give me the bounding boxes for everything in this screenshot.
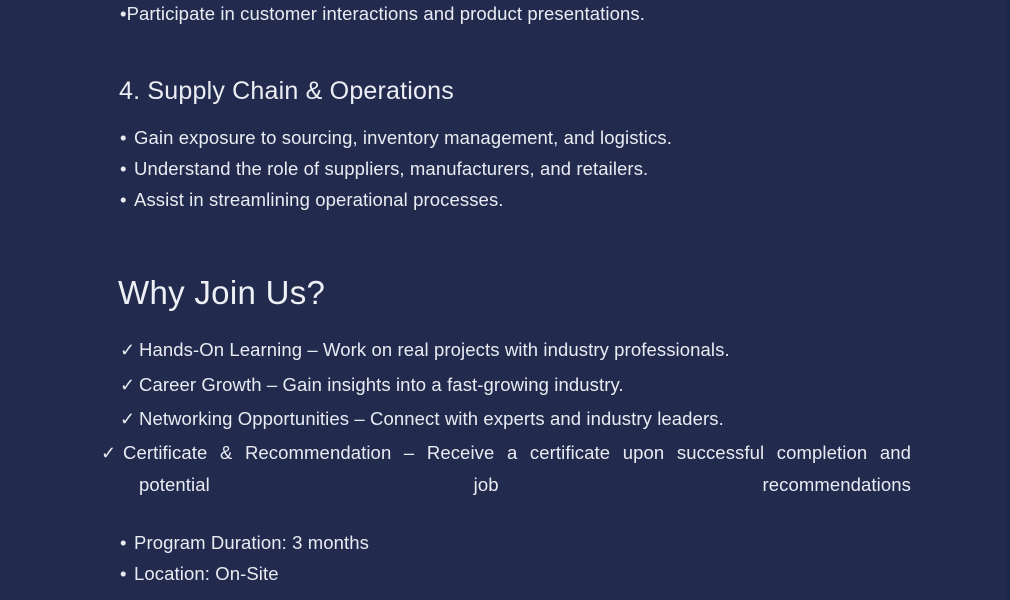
slide-canvas: •Participate in customer interactions an… (0, 0, 1010, 600)
bullet-marker: • (120, 122, 134, 153)
bullet-marker: • (120, 527, 134, 558)
bullet-marker: • (120, 558, 134, 589)
bullet-marker: • (120, 3, 127, 24)
section-heading: 4. Supply Chain & Operations (119, 75, 454, 107)
list-item: •Understand the role of suppliers, manuf… (120, 153, 672, 184)
list-item-label: Certificate & Recommendation – Receive a… (123, 442, 911, 495)
page-title: Why Join Us? (118, 272, 325, 314)
list-item-label: Networking Opportunities – Connect with … (139, 408, 724, 429)
list-item: •Gain exposure to sourcing, inventory ma… (120, 122, 672, 153)
list-item-label: Participate in customer interactions and… (127, 3, 645, 24)
list-item: ✓Hands-On Learning – Work on real projec… (120, 333, 910, 368)
list-item: ✓Networking Opportunities – Connect with… (120, 402, 910, 437)
list-item: •Participate in customer interactions an… (120, 2, 645, 26)
list-item: •Assist in streamlining operational proc… (120, 184, 672, 215)
check-icon: ✓ (120, 369, 139, 403)
program-details-list: •Program Duration: 3 months •Location: O… (120, 527, 369, 589)
list-item: •Program Duration: 3 months (120, 527, 369, 558)
list-item: •Location: On-Site (120, 558, 369, 589)
list-item-label: Hands-On Learning – Work on real project… (139, 339, 730, 360)
list-item-label: Assist in streamlining operational proce… (134, 189, 504, 210)
list-item: ✓Certificate & Recommendation – Receive … (120, 437, 911, 531)
list-item-label: Gain exposure to sourcing, inventory man… (134, 127, 672, 148)
bullet-marker: • (120, 153, 134, 184)
list-item-label: Location: On-Site (134, 563, 279, 584)
check-icon: ✓ (120, 334, 139, 368)
list-item: ✓Career Growth – Gain insights into a fa… (120, 368, 910, 403)
section-bullet-list: •Gain exposure to sourcing, inventory ma… (120, 122, 672, 215)
list-item-label: Program Duration: 3 months (134, 532, 369, 553)
benefits-list: ✓Hands-On Learning – Work on real projec… (120, 333, 910, 531)
list-item-label: Career Growth – Gain insights into a fas… (139, 374, 624, 395)
list-item-label: Understand the role of suppliers, manufa… (134, 158, 648, 179)
check-icon: ✓ (120, 403, 139, 437)
bullet-marker: • (120, 184, 134, 215)
